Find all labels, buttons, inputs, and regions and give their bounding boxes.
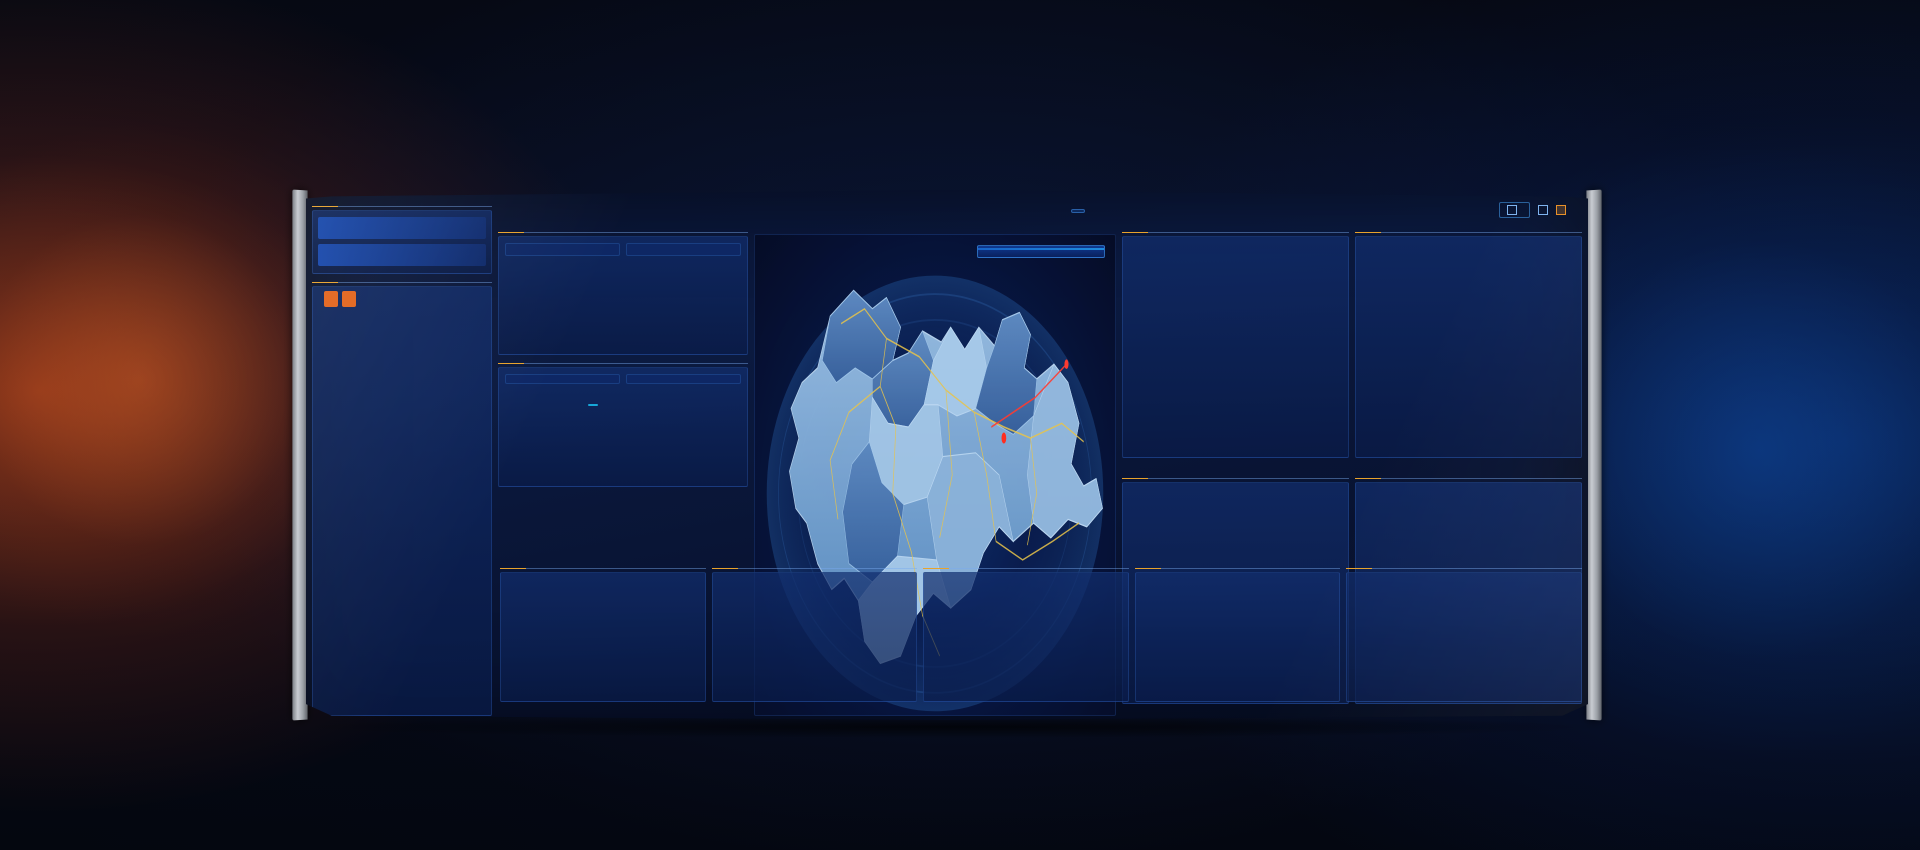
highway-title xyxy=(712,566,918,569)
highway-in-out-body xyxy=(498,367,748,487)
accident-list-title xyxy=(312,280,492,283)
meter-highway-in xyxy=(505,374,620,384)
accident-count-digit xyxy=(324,291,338,307)
header-right-group xyxy=(1499,202,1574,218)
highway-chart xyxy=(924,582,1128,662)
online-rate-items xyxy=(1347,573,1581,585)
map-tooltip xyxy=(977,245,1105,258)
toll-wave-icon xyxy=(1161,237,1311,271)
highway-title xyxy=(923,566,1129,569)
toll-title xyxy=(1355,476,1582,479)
highway-chart xyxy=(1136,582,1340,662)
bottom-row xyxy=(500,566,1582,714)
in-out-meters xyxy=(499,237,747,258)
left-column xyxy=(312,196,492,716)
toll-gauge xyxy=(1123,237,1348,271)
panel-accident-list xyxy=(312,280,492,716)
wall-frame-left xyxy=(292,190,307,721)
accident-list-body[interactable] xyxy=(312,286,492,716)
online-rate-title xyxy=(1346,566,1582,569)
toll-chart xyxy=(1356,271,1581,457)
toll-chart xyxy=(1123,271,1348,457)
location-selector[interactable] xyxy=(1499,202,1530,218)
panel-highway-2 xyxy=(712,566,918,714)
highway-in-out-title xyxy=(498,361,748,364)
panel-highway-3 xyxy=(923,566,1129,714)
toll-body xyxy=(1122,236,1349,458)
highway-in-out-meters xyxy=(499,368,747,386)
highway-chart xyxy=(713,582,917,662)
toll-wave-icon xyxy=(1394,483,1544,517)
highway-title xyxy=(500,566,706,569)
in-out-flow-body xyxy=(498,236,748,355)
grid-icon[interactable] xyxy=(1538,205,1548,215)
toll-gauge xyxy=(1356,483,1581,517)
toll-row-top xyxy=(1122,230,1582,470)
panel-highway-in-out xyxy=(498,361,748,487)
meter-inbound xyxy=(505,243,620,256)
alert-icon[interactable] xyxy=(1556,205,1566,215)
particle-field-left xyxy=(0,0,330,850)
accident-count-digit xyxy=(342,291,356,307)
highway-body xyxy=(1135,572,1341,702)
toll-wave-icon xyxy=(1161,483,1311,517)
wall-frame-right xyxy=(1586,190,1601,721)
highway-body xyxy=(712,572,918,702)
panel-toll-2 xyxy=(1355,230,1582,470)
video-wall xyxy=(292,190,1602,720)
chart-icon xyxy=(1507,205,1517,215)
toll-title xyxy=(1122,476,1349,479)
highway-title xyxy=(1135,566,1341,569)
meter-highway-out xyxy=(626,374,741,384)
online-rate-body xyxy=(1346,572,1582,702)
panel-highway-4 xyxy=(1135,566,1341,714)
chart-tooltip xyxy=(588,404,598,406)
meter-outbound xyxy=(626,243,741,256)
map-tooltip-key xyxy=(978,250,1104,253)
panel-in-out-flow xyxy=(498,230,748,355)
toll-wave-icon xyxy=(1394,237,1544,271)
dashboard-header xyxy=(306,200,1588,234)
accident-count-row xyxy=(313,287,491,309)
highway-body xyxy=(923,572,1129,702)
in-out-flow-chart xyxy=(499,258,747,354)
toll-gauge xyxy=(1356,237,1581,271)
highway-body xyxy=(500,572,706,702)
tab-daily-monitor[interactable] xyxy=(1071,209,1085,213)
panel-online-rate xyxy=(1346,566,1582,714)
toll-gauge xyxy=(1123,483,1348,517)
panel-highway-1 xyxy=(500,566,706,714)
highway-chart xyxy=(501,582,705,662)
toll-body xyxy=(1355,236,1582,458)
dashboard-screen xyxy=(306,190,1588,720)
panel-toll-1 xyxy=(1122,230,1349,470)
stat-row xyxy=(318,244,486,266)
highway-in-out-chart xyxy=(499,386,747,486)
